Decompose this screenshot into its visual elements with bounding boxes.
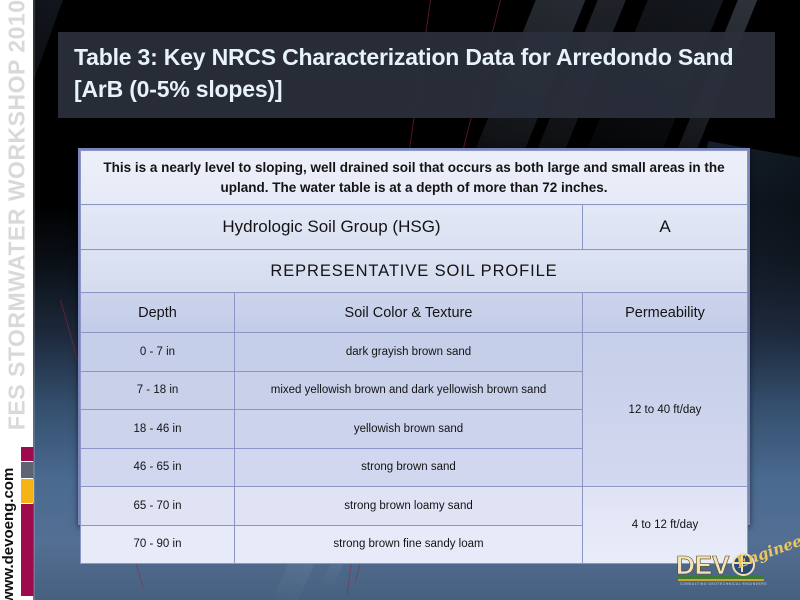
soil-description-cell: This is a nearly level to sloping, well … (81, 151, 748, 205)
sidebar-edge-divider (33, 0, 35, 600)
depth-cell: 7 - 18 in (81, 371, 235, 410)
table-row-profile-title: REPRESENTATIVE SOIL PROFILE (81, 250, 748, 293)
depth-cell: 65 - 70 in (81, 487, 235, 526)
logo-tagline: CONSULTING GEOTECHNICAL ENGINEERS (680, 582, 768, 586)
table-row: 0 - 7 indark grayish brown sand12 to 40 … (81, 333, 748, 372)
soil-data-table-container: This is a nearly level to sloping, well … (78, 148, 750, 525)
depth-cell: 46 - 65 in (81, 448, 235, 487)
hsg-label-cell: Hydrologic Soil Group (HSG) (81, 205, 583, 250)
logo-rule-gold (678, 579, 764, 581)
depth-cell: 18 - 46 in (81, 410, 235, 449)
table-row: 65 - 70 instrong brown loamy sand4 to 12… (81, 487, 748, 526)
profile-section-title: REPRESENTATIVE SOIL PROFILE (81, 250, 748, 293)
slide-canvas: FES STORMWATER WORKSHOP 2010 www.devoeng… (0, 0, 800, 600)
page-title-line-1: Table 3: Key NRCS Characterization Data … (74, 41, 764, 73)
texture-cell: mixed yellowish brown and dark yellowish… (235, 371, 583, 410)
table-row-hsg: Hydrologic Soil Group (HSG) A (81, 205, 748, 250)
depth-cell: 70 - 90 in (81, 525, 235, 564)
devo-engineering-logo: DEV CONSULTING GEOTECHNICAL ENGINEERS En… (676, 548, 794, 594)
texture-cell: strong brown loamy sand (235, 487, 583, 526)
column-header-texture: Soil Color & Texture (235, 293, 583, 333)
hsg-value-cell: A (582, 205, 747, 250)
permeability-cell: 12 to 40 ft/day (582, 333, 747, 487)
texture-cell: yellowish brown sand (235, 410, 583, 449)
texture-cell: dark grayish brown sand (235, 333, 583, 372)
page-title: Table 3: Key NRCS Characterization Data … (74, 41, 764, 105)
texture-cell: strong brown fine sandy loam (235, 525, 583, 564)
soil-data-table: This is a nearly level to sloping, well … (80, 150, 748, 564)
column-header-permeability: Permeability (582, 293, 747, 333)
depth-cell: 0 - 7 in (81, 333, 235, 372)
sidebar: FES STORMWATER WORKSHOP 2010 www.devoeng… (0, 0, 33, 600)
page-title-line-2: [ArB (0-5% slopes)] (74, 73, 764, 105)
table-row-description: This is a nearly level to sloping, well … (81, 151, 748, 205)
sidebar-website-url[interactable]: www.devoeng.com (0, 423, 21, 600)
texture-cell: strong brown sand (235, 448, 583, 487)
column-header-depth: Depth (81, 293, 235, 333)
table-header-row: Depth Soil Color & Texture Permeability (81, 293, 748, 333)
slide-title-bar: Table 3: Key NRCS Characterization Data … (58, 32, 775, 118)
